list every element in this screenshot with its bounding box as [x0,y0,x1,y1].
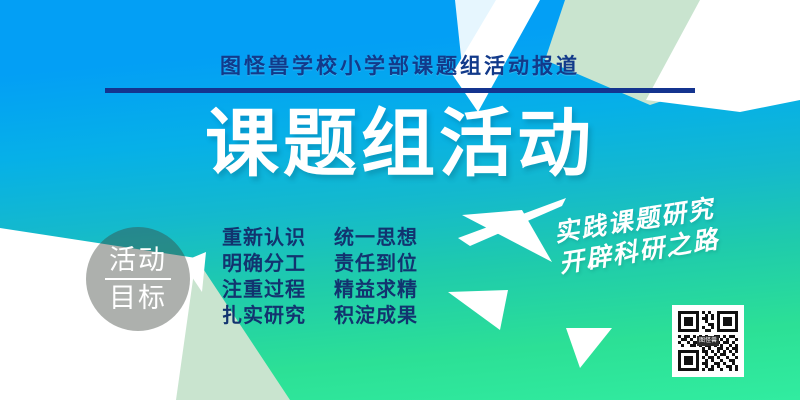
activity-goal-badge: 活动 目标 [86,227,190,331]
slogan-cell: 明确分工 [222,252,334,277]
qr-code[interactable]: 图怪兽 [672,305,744,377]
slogan-list: 重新认识 统一思想 明确分工 责任到位 注重过程 精益求精 扎实研究 积淀成果 [222,226,434,329]
polygon-white-triangle-b [448,290,508,330]
slogan-cell: 扎实研究 [222,304,334,329]
slogan-row: 扎实研究 积淀成果 [222,304,434,329]
slogan-cell: 积淀成果 [334,304,434,329]
qr-center-label: 图怪兽 [697,336,719,346]
slogan-cell: 统一思想 [334,226,434,251]
badge-line-top: 活动 [109,244,167,276]
poster-canvas: 图怪兽学校小学部课题组活动报道 课题组活动 活动 目标 重新认识 统一思想 明确… [0,0,800,400]
header-divider [105,88,695,93]
badge-divider [105,278,171,280]
polygon-white-triangle-a [462,210,552,262]
badge-line-bottom: 目标 [109,282,167,314]
slogan-cell: 注重过程 [222,278,334,303]
polygon-white-triangle-c [566,328,612,368]
poster-subtitle: 图怪兽学校小学部课题组活动报道 [0,50,800,80]
tagline-block: 实践课题研究 开辟科研之路 [552,194,722,281]
slogan-row: 重新认识 统一思想 [222,226,434,251]
slogan-row: 注重过程 精益求精 [222,278,434,303]
slogan-cell: 精益求精 [334,278,434,303]
polygon-white-quad-midright [458,198,566,246]
poster-title: 课题组活动 [0,104,800,184]
qr-canvas: 图怪兽 [675,308,741,374]
slogan-cell: 责任到位 [334,252,434,277]
slogan-cell: 重新认识 [222,226,334,251]
slogan-row: 明确分工 责任到位 [222,252,434,277]
